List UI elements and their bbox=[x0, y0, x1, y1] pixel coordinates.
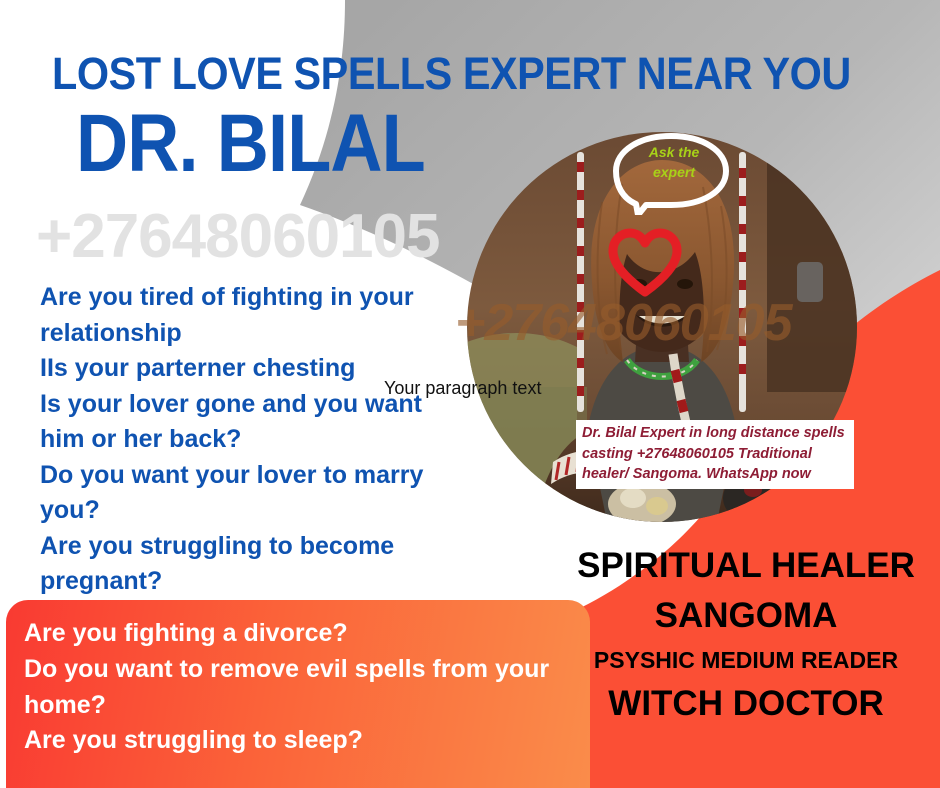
blue-question-list: Are you tired of fighting in your relati… bbox=[40, 280, 470, 600]
photo-caption-band: Dr. Bilal Expert in long distance spells… bbox=[576, 420, 854, 489]
orange-question-panel: Are you fighting a divorce? Do you want … bbox=[6, 600, 590, 788]
service-item-witch-doctor: WITCH DOCTOR bbox=[552, 684, 940, 723]
services-list: SPIRITUAL HEALER SANGOMA PSYSHIC MEDIUM … bbox=[552, 546, 940, 723]
paragraph-placeholder-text: Your paragraph text bbox=[384, 378, 541, 399]
ghost-phone-number: +27648060105 bbox=[36, 206, 440, 268]
service-item-spiritual-healer: SPIRITUAL HEALER bbox=[552, 546, 940, 585]
poster-canvas: LOST LOVE SPELLS EXPERT NEAR YOU DR. BIL… bbox=[0, 0, 940, 788]
photo-watermark-phone: +27648060105 bbox=[455, 293, 792, 353]
blue-question-item: Do you want your lover to marry you? bbox=[40, 458, 470, 529]
orange-question-item: Are you struggling to sleep? bbox=[24, 723, 564, 759]
orange-question-list: Are you fighting a divorce? Do you want … bbox=[24, 616, 564, 759]
page-title: LOST LOVE SPELLS EXPERT NEAR YOU bbox=[52, 50, 825, 97]
service-item-psychic-medium-reader: PSYSHIC MEDIUM READER bbox=[552, 648, 940, 674]
blue-question-item: Are you struggling to become pregnant? bbox=[40, 529, 470, 600]
orange-question-item: Are you fighting a divorce? bbox=[24, 616, 564, 652]
service-item-sangoma: SANGOMA bbox=[552, 596, 940, 635]
orange-question-item: Do you want to remove evil spells from y… bbox=[24, 652, 564, 724]
blue-question-item: Are you tired of fighting in your relati… bbox=[40, 280, 470, 351]
heart-icon bbox=[608, 228, 682, 298]
doctor-name: DR. BILAL bbox=[76, 103, 425, 185]
speech-bubble-label: Ask the expert bbox=[628, 142, 720, 183]
